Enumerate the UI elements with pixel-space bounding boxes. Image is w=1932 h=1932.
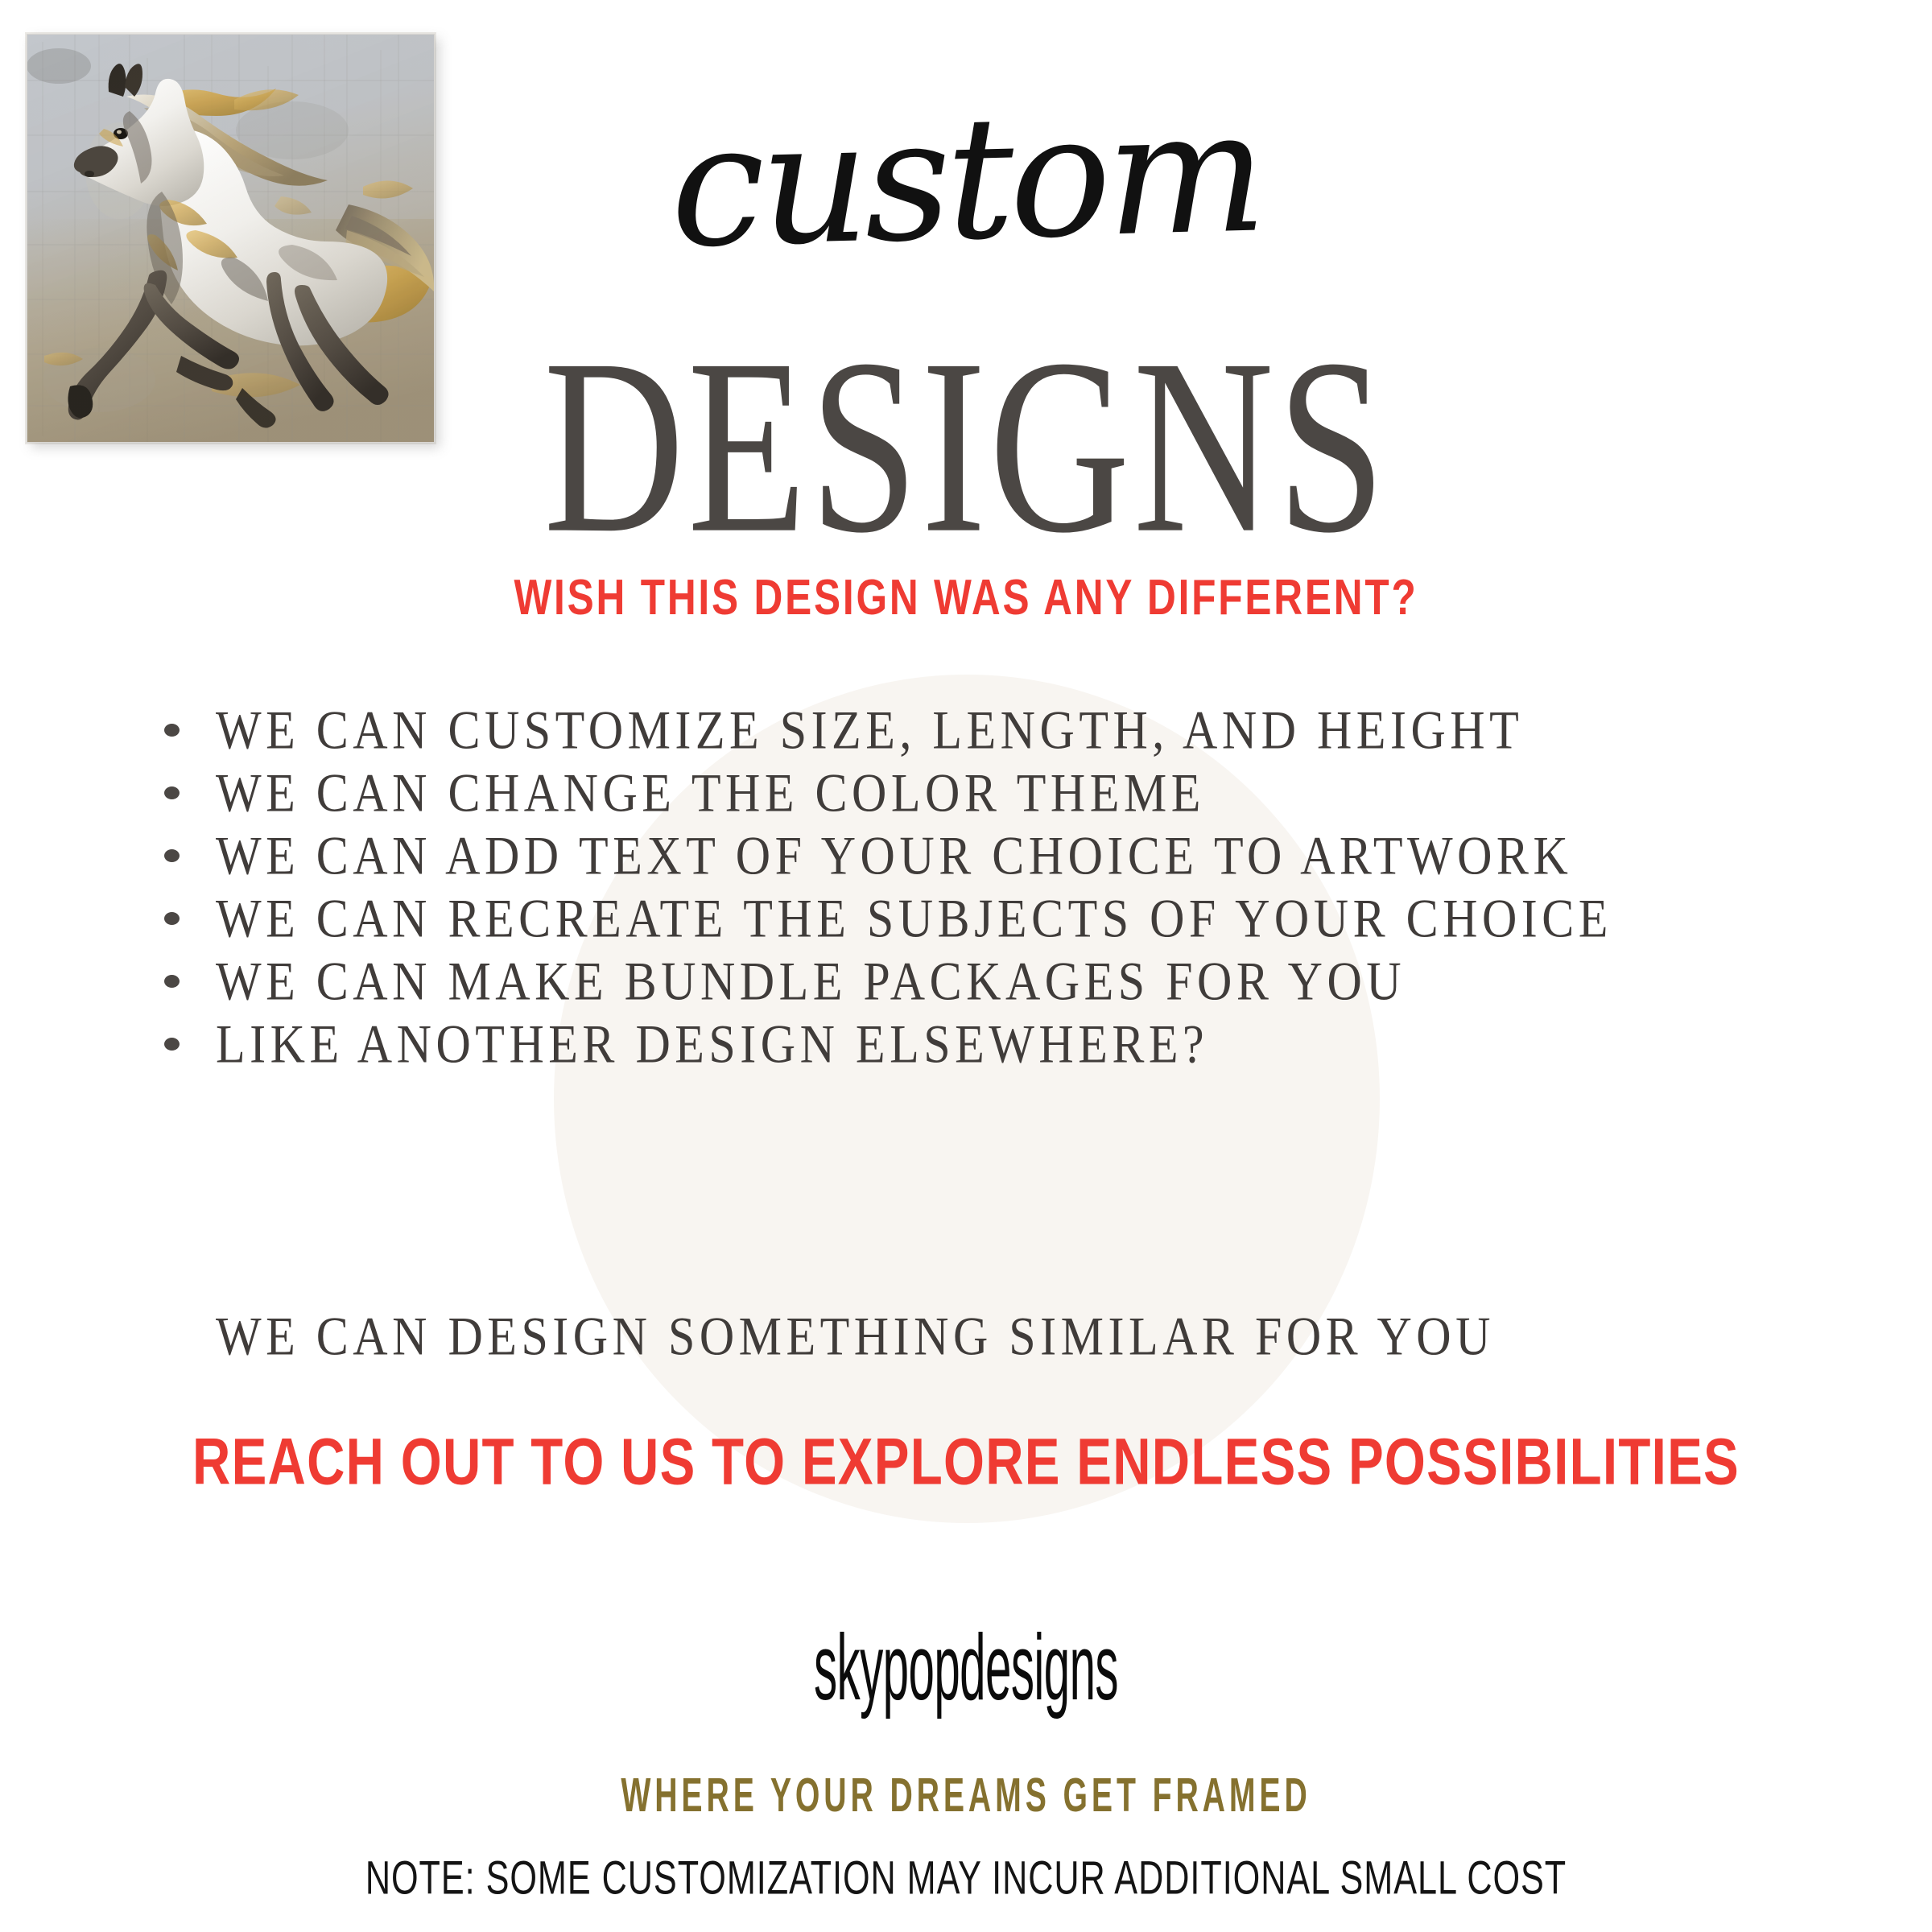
footer-note: NOTE: SOME CUSTOMIZATION MAY INCUR ADDIT… — [193, 1855, 1739, 1901]
brand-tagline: WHERE YOUR DREAMS GET FRAMED — [290, 1771, 1642, 1818]
list-item-label: WE CAN MAKE BUNDLE PACKAGES FOR YOU — [216, 954, 1406, 1009]
list-item-label: WE CAN CUSTOMIZE SIZE, LENGTH, AND HEIGH… — [216, 703, 1523, 758]
bullet-dot-icon — [164, 724, 180, 737]
brand-logo-wordmark: skypopdesigns — [425, 1621, 1507, 1715]
bullet-dot-icon — [164, 849, 180, 862]
artwork-thumbnail[interactable] — [27, 34, 435, 443]
list-item: WE CAN ADD TEXT OF YOUR CHOICE TO ARTWOR… — [158, 824, 1848, 887]
list-item-label: WE CAN CHANGE THE COLOR THEME — [216, 766, 1205, 820]
list-item-label: WE CAN ADD TEXT OF YOUR CHOICE TO ARTWOR… — [216, 828, 1572, 883]
list-item: LIKE ANOTHER DESIGN ELSEWHERE? — [158, 1013, 1848, 1075]
list-item: WE CAN MAKE BUNDLE PACKAGES FOR YOU — [158, 950, 1848, 1013]
bullet-dot-icon — [164, 786, 180, 799]
list-item: WE CAN CUSTOMIZE SIZE, LENGTH, AND HEIGH… — [158, 699, 1848, 762]
list-item-continuation: WE CAN DESIGN SOMETHING SIMILAR FOR YOU — [216, 1309, 1495, 1364]
list-item: WE CAN RECREATE THE SUBJECTS OF YOUR CHO… — [158, 887, 1848, 950]
list-item: WE CAN CHANGE THE COLOR THEME — [158, 762, 1848, 824]
subheadline-question: WISH THIS DESIGN WAS ANY DIFFERENT? — [193, 573, 1739, 623]
bullet-dot-icon — [164, 1038, 180, 1051]
call-to-action-text: REACH OUT TO US TO EXPLORE ENDLESS POSSI… — [155, 1428, 1777, 1494]
feature-list: WE CAN CUSTOMIZE SIZE, LENGTH, AND HEIGH… — [158, 699, 1848, 1075]
running-horse-painting — [27, 34, 435, 443]
list-item-label: LIKE ANOTHER DESIGN ELSEWHERE? — [216, 1017, 1208, 1071]
bullet-dot-icon — [164, 912, 180, 925]
list-item-label: WE CAN RECREATE THE SUBJECTS OF YOUR CHO… — [216, 891, 1612, 946]
bullet-dot-icon — [164, 975, 180, 988]
